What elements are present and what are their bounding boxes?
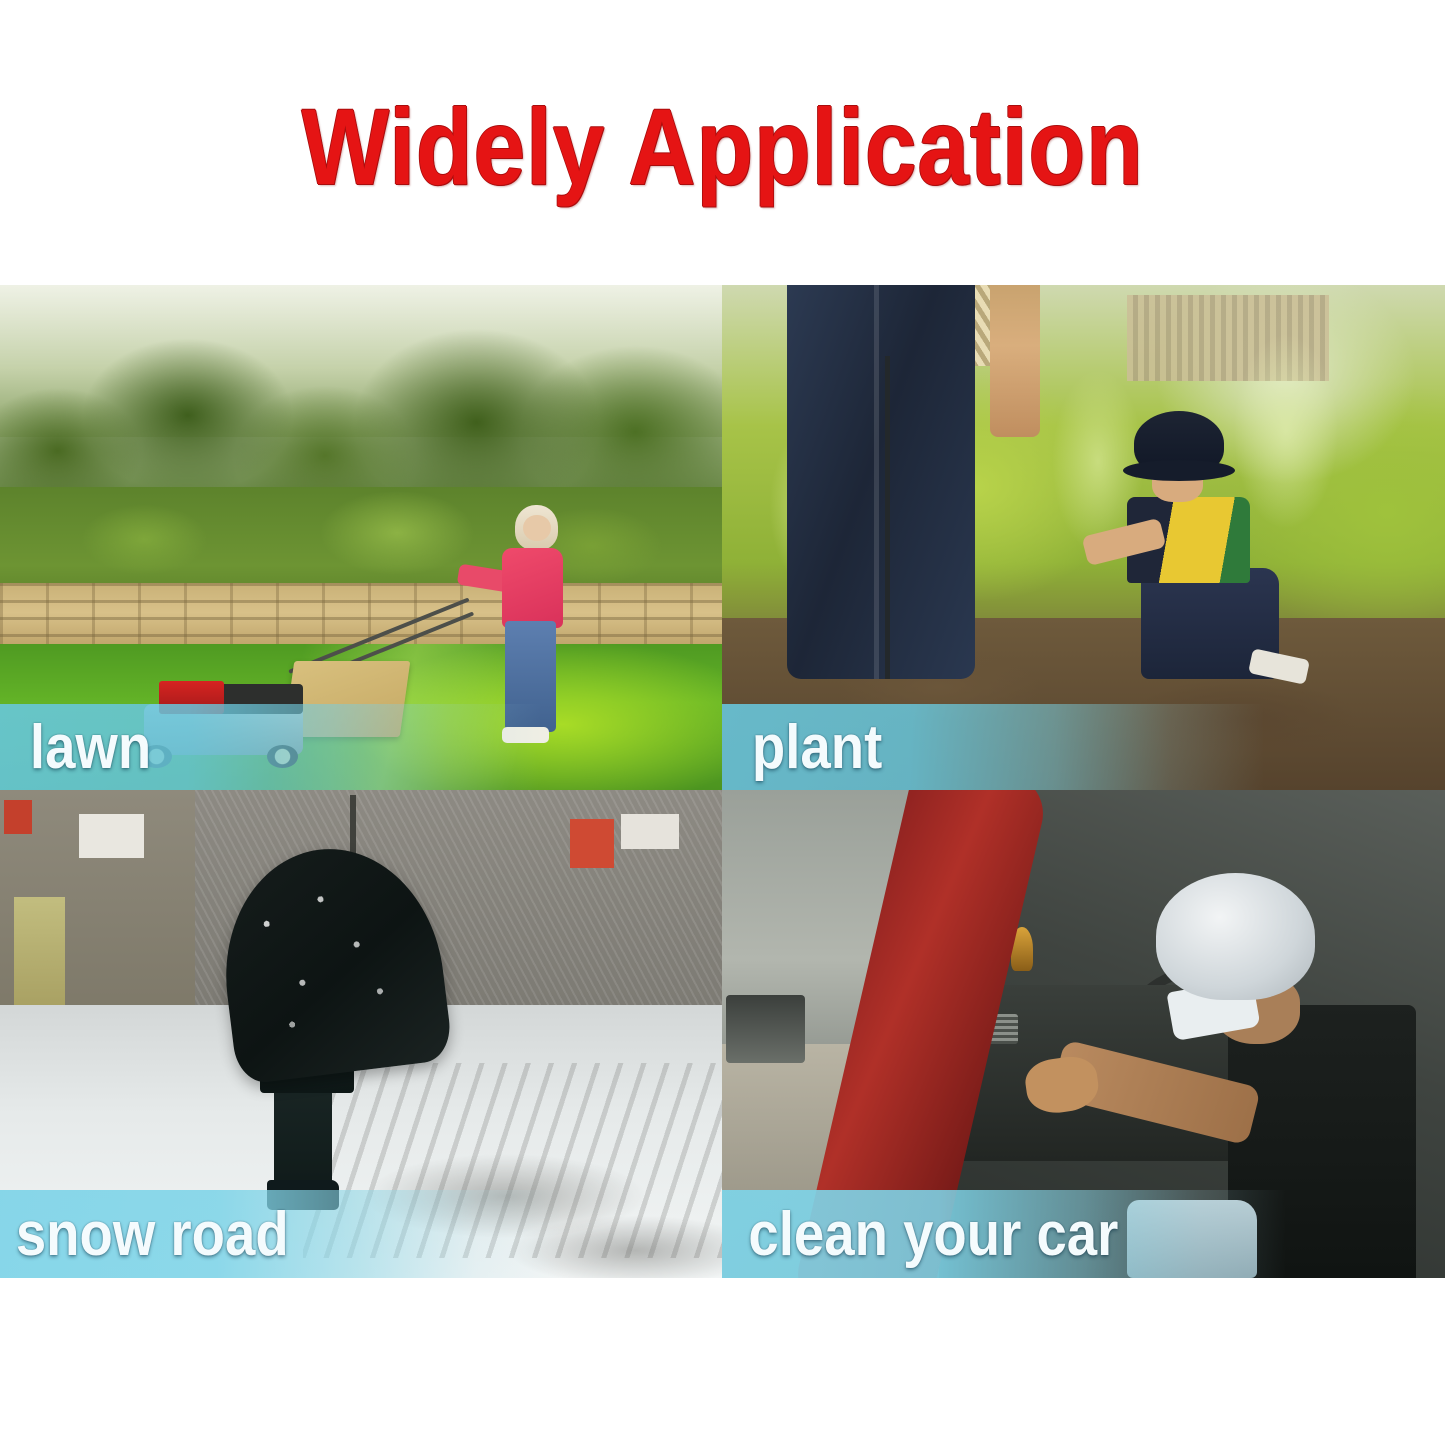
- application-tile-lawn[interactable]: lawn: [0, 285, 722, 790]
- red-banner: [4, 800, 33, 834]
- building-sign: [79, 814, 144, 858]
- scene-gardening-with-child: [722, 285, 1445, 790]
- child-bucket-hat: [1134, 411, 1224, 477]
- title-banner: Widely Application: [0, 0, 1445, 285]
- building-door: [14, 897, 65, 1014]
- application-tile-snow-road[interactable]: snow road: [0, 790, 722, 1278]
- worker-hair-net: [1156, 873, 1315, 1000]
- mower-wheel-rear: [267, 745, 298, 768]
- adult-arm: [990, 285, 1041, 437]
- application-collage: lawn plant: [0, 285, 1445, 1278]
- person-head: [523, 515, 550, 541]
- person-shoe: [502, 727, 549, 743]
- street-sign-white: [621, 814, 679, 848]
- street-sign-red: [570, 819, 613, 868]
- scene-woman-mowing-lawn: [0, 285, 722, 790]
- scene-person-with-umbrella-in-snow: [0, 790, 722, 1278]
- adult-trousers: [787, 285, 975, 679]
- mower-wheel-front: [141, 745, 172, 768]
- side-mirror: [726, 995, 806, 1063]
- product-feature-image: Widely Application: [0, 0, 1445, 1445]
- tire-tracks: [303, 1063, 722, 1258]
- application-tile-plant[interactable]: plant: [722, 285, 1445, 790]
- page-title: Widely Application: [301, 84, 1143, 209]
- mower-engine: [159, 681, 224, 714]
- person-boots: [267, 1180, 339, 1209]
- application-tile-clean-your-car[interactable]: clean your car: [722, 790, 1445, 1278]
- cleaning-cloth: [1127, 1200, 1257, 1278]
- person-jeans: [505, 621, 556, 732]
- scene-cleaning-car-interior: [722, 790, 1445, 1278]
- person-pink-top: [502, 548, 563, 629]
- garden-tool-handle: [885, 356, 890, 679]
